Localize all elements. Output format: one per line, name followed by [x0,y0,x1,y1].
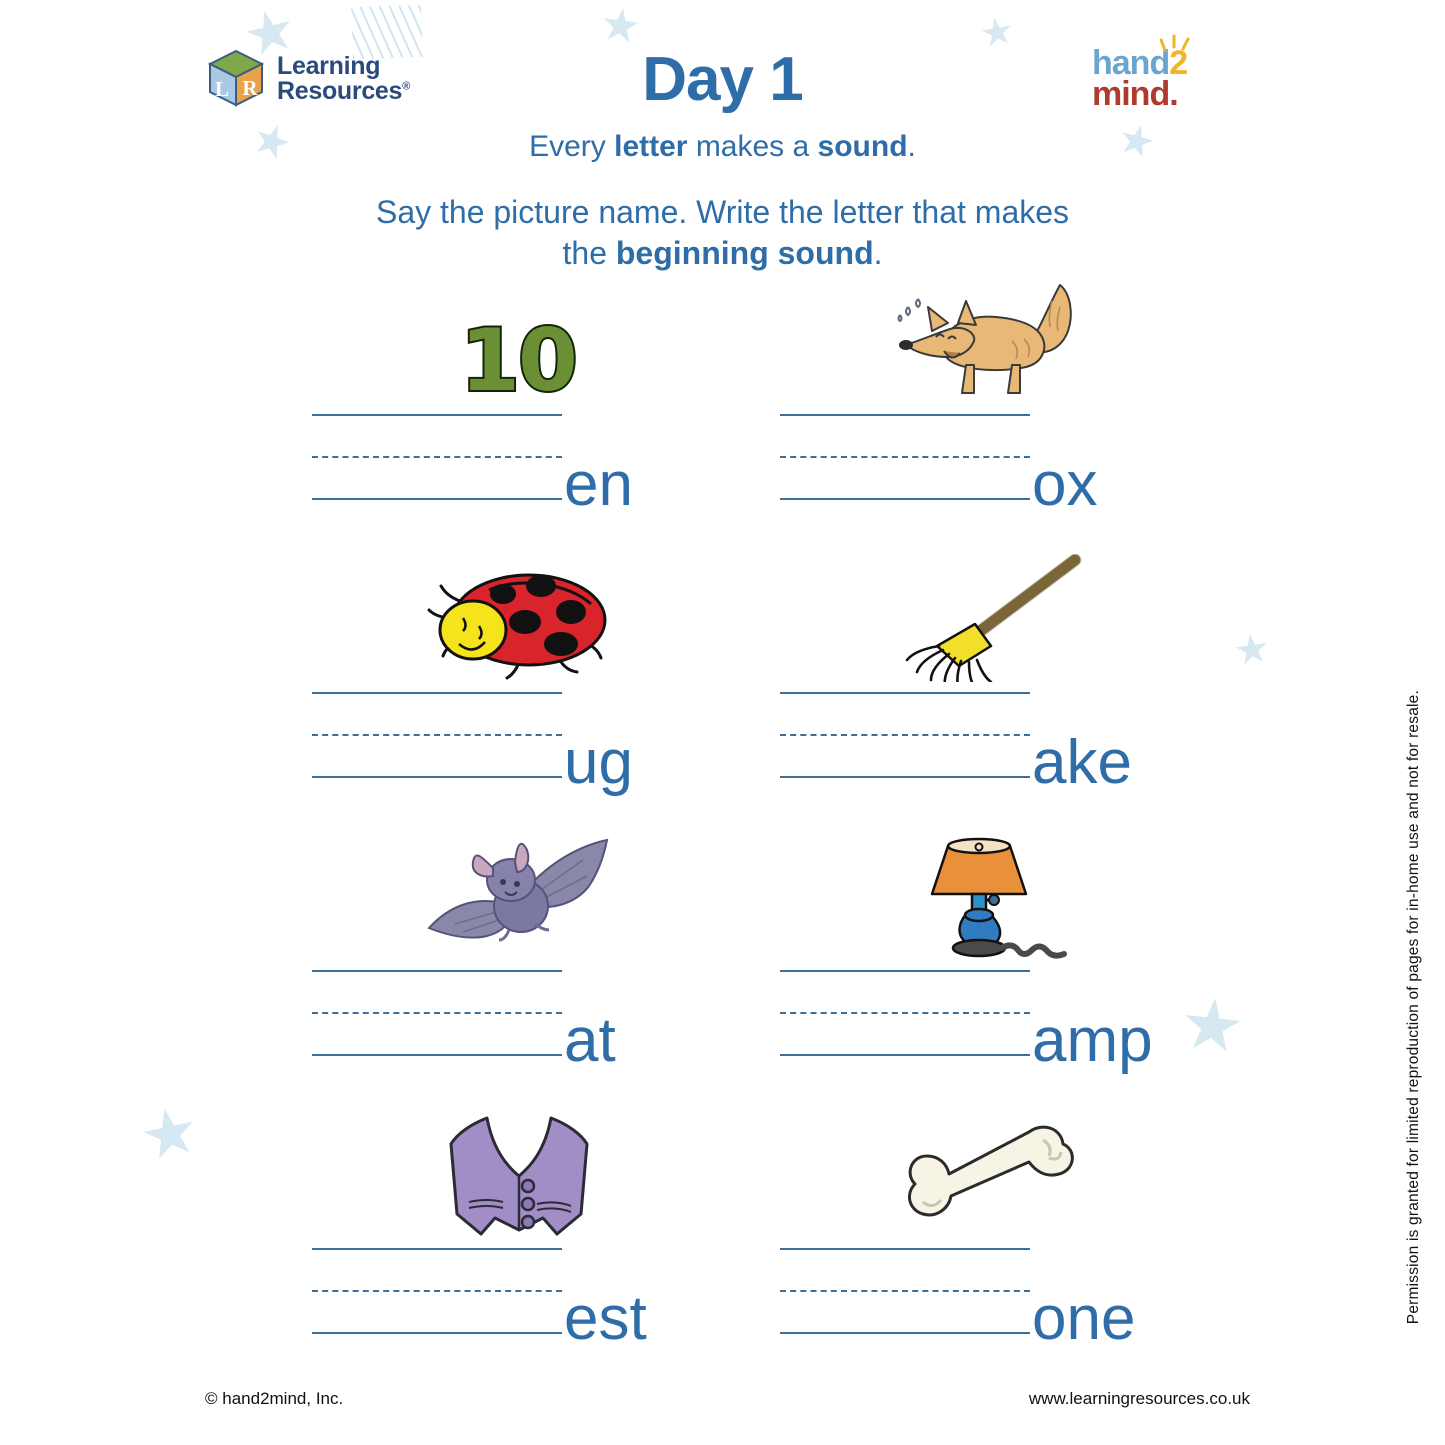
instructions-line-2: the beginning sound. [300,233,1145,274]
footer-website: www.learningresources.co.uk [1029,1389,1250,1409]
handwriting-line-middle-dashed [780,1012,1030,1014]
fox-illustration [884,279,1089,404]
writing-area: ox [780,414,1192,500]
word-ending: amp [1032,1010,1153,1072]
handwriting-line-top [780,414,1030,416]
exercise-item-rake: ake [780,556,1192,834]
handwriting-lines[interactable]: est [312,1248,562,1334]
exercise-item-vest: est [312,1112,724,1390]
handwriting-line-bottom [780,776,1030,778]
writing-area: ake [780,692,1192,778]
writing-area: one [780,1248,1192,1334]
word-ending: ake [1032,732,1132,794]
bone-illustration [889,1118,1084,1238]
subtitle: Every letter makes a sound. [0,130,1445,164]
handwriting-line-bottom [312,776,562,778]
instructions-line-1: Say the picture name. Write the letter t… [300,192,1145,233]
subtitle-seg-2-bold: letter [614,130,687,163]
exercise-item-fox: ox [780,278,1192,556]
exercise-item-ten: 10 en [312,278,724,556]
word-ending: ox [1032,454,1097,516]
exercise-item-bone: one [780,1112,1192,1390]
handwriting-line-middle-dashed [312,1012,562,1014]
handwriting-line-top [312,1248,562,1250]
handwriting-lines[interactable]: at [312,970,562,1056]
word-ending: one [1032,1288,1135,1350]
handwriting-line-top [312,692,562,694]
subtitle-seg-3: makes a [687,130,817,163]
word-ending: en [564,454,633,516]
handwriting-lines[interactable]: one [780,1248,1030,1334]
exercise-item-bug: ug [312,556,724,834]
page-title: Day 1 [0,44,1445,115]
handwriting-line-top [780,1248,1030,1250]
word-ending: ug [564,732,633,794]
writing-area: en [312,414,724,500]
picture-number-ten: 10 [312,278,724,406]
instructions-line-2-pre: the [563,235,616,271]
rake-illustration [879,554,1094,682]
handwriting-line-bottom [780,498,1030,500]
word-ending: at [564,1010,616,1072]
handwriting-lines[interactable]: ox [780,414,1030,500]
handwriting-lines[interactable]: amp [780,970,1030,1056]
picture-bone [780,1112,1192,1240]
subtitle-seg-5: . [908,130,916,163]
handwriting-line-bottom [780,1332,1030,1334]
picture-bat [312,834,724,962]
picture-vest [312,1112,724,1240]
subtitle-seg-1: Every [529,130,614,163]
instructions-line-2-bold: beginning sound [616,235,874,271]
handwriting-line-middle-dashed [780,456,1030,458]
handwriting-line-middle-dashed [312,456,562,458]
exercise-grid: 10 en [312,278,1192,1390]
picture-fox [780,278,1192,406]
writing-area: ug [312,692,724,778]
handwriting-lines[interactable]: en [312,414,562,500]
exercise-item-bat: at [312,834,724,1112]
footer-copyright: © hand2mind, Inc. [205,1389,343,1409]
handwriting-line-top [312,970,562,972]
handwriting-line-middle-dashed [780,1290,1030,1292]
instructions: Say the picture name. Write the letter t… [300,192,1145,274]
permission-note: Permission is granted for limited reprod… [1405,690,1423,1324]
handwriting-line-bottom [312,1332,562,1334]
exercise-item-lamp: amp [780,834,1192,1112]
handwriting-line-top [780,970,1030,972]
ladybug-illustration [411,560,626,682]
picture-rake [780,556,1192,684]
decorative-star-icon: ★ [134,1095,206,1172]
worksheet-page: ★ ★ ★ ★ ★ ★ ★ ★ L R Learning Resources® … [0,0,1445,1445]
writing-area: est [312,1248,724,1334]
handwriting-line-bottom [312,498,562,500]
handwriting-line-bottom [780,1054,1030,1056]
writing-area: amp [780,970,1192,1056]
subtitle-seg-4-bold: sound [818,130,908,163]
handwriting-line-middle-dashed [780,734,1030,736]
writing-area: at [312,970,724,1056]
bat-illustration [411,832,626,960]
handwriting-lines[interactable]: ug [312,692,562,778]
handwriting-line-top [780,692,1030,694]
handwriting-line-middle-dashed [312,1290,562,1292]
word-ending: est [564,1288,647,1350]
number-ten-graphic: 10 [460,318,576,404]
handwriting-line-middle-dashed [312,734,562,736]
lamp-illustration [896,828,1076,960]
decorative-star-icon: ★ [1231,628,1272,673]
instructions-line-2-post: . [874,235,883,271]
handwriting-line-top [312,414,562,416]
picture-lamp [780,834,1192,962]
picture-ladybug [312,556,724,684]
vest-illustration [431,1110,606,1238]
handwriting-line-bottom [312,1054,562,1056]
handwriting-lines[interactable]: ake [780,692,1030,778]
